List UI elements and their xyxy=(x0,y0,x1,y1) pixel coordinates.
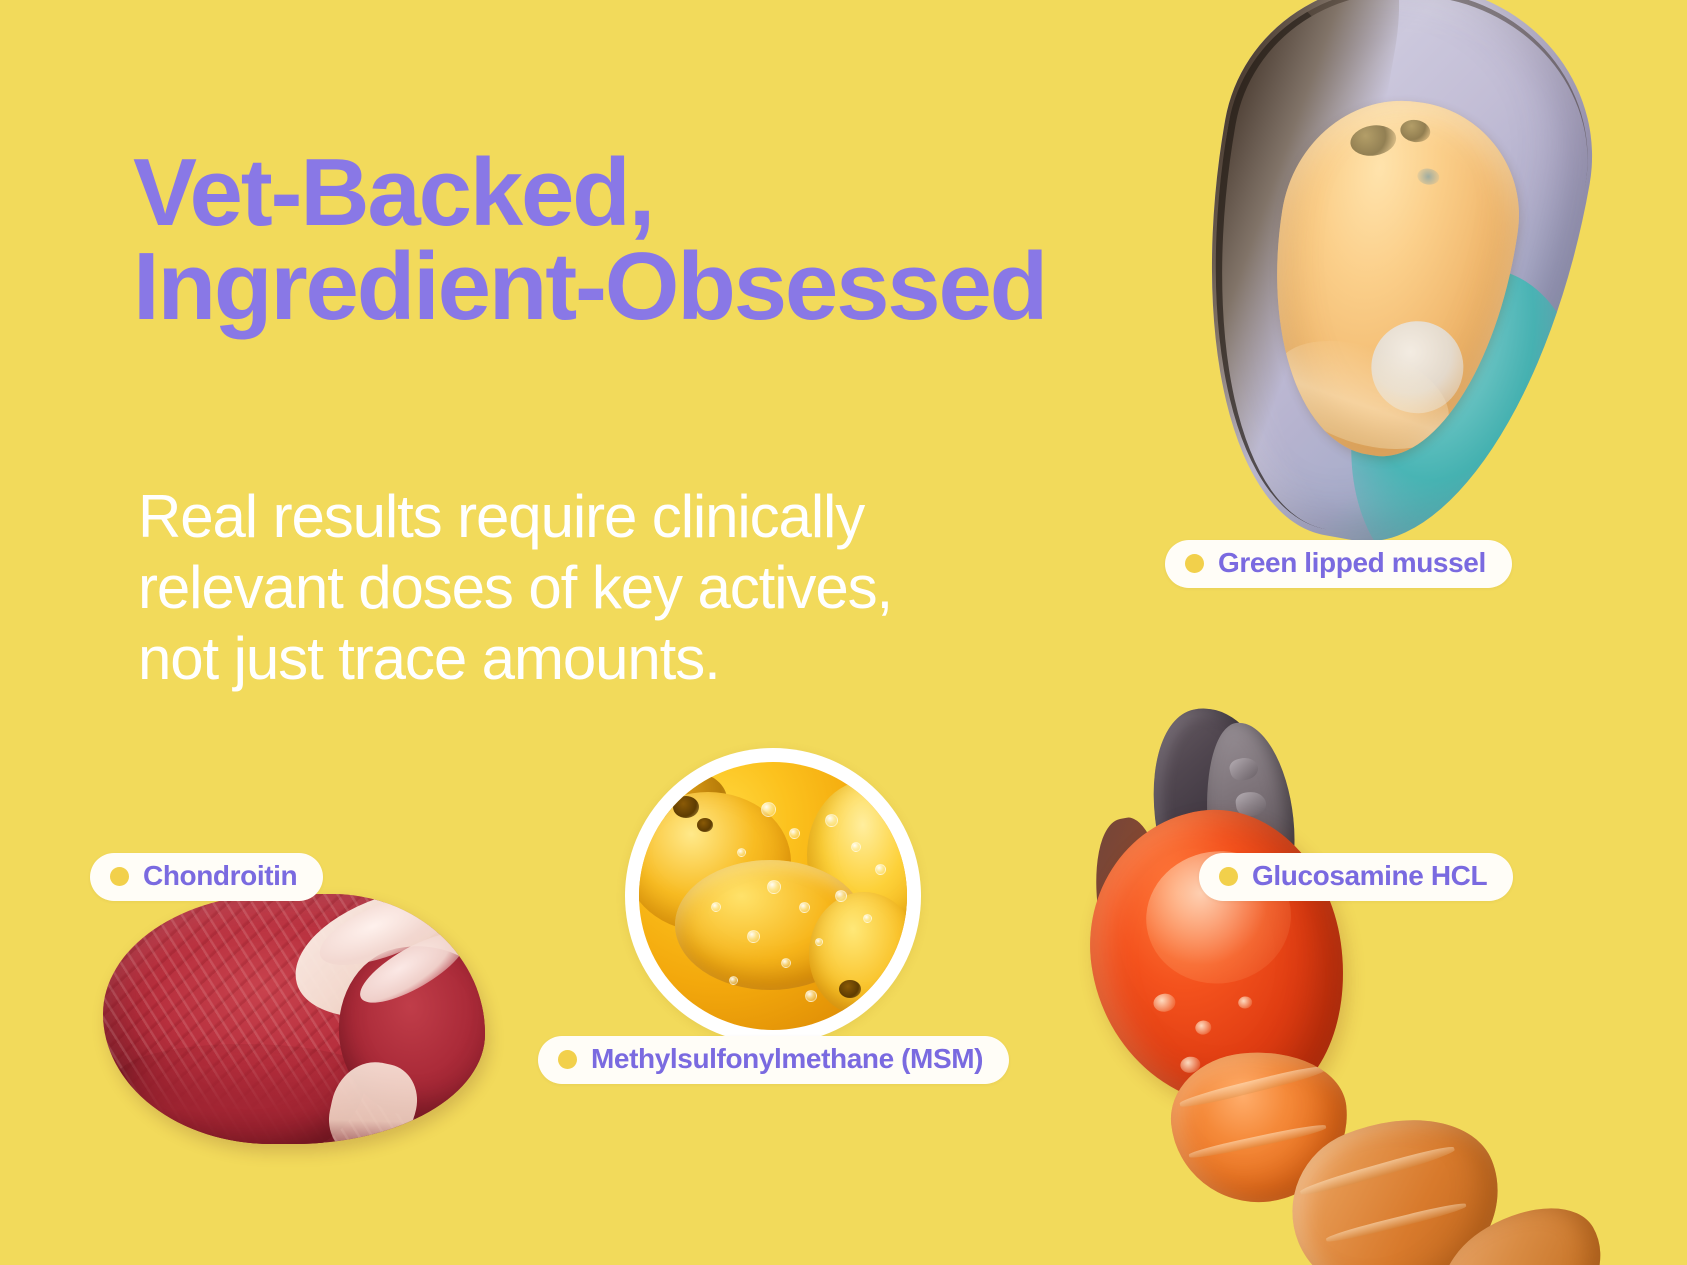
raw-steak-photo xyxy=(95,880,495,1180)
page-title: Vet-Backed, Ingredient-Obsessed xyxy=(133,146,1253,334)
oil-bubble xyxy=(815,938,823,946)
mussel-flesh-spot xyxy=(1416,167,1440,186)
oil-bubble xyxy=(863,914,872,923)
subtitle-line-3: not just trace amounts. xyxy=(138,624,1098,695)
oil-bubble xyxy=(789,828,800,839)
claw-segment-line xyxy=(1299,1143,1456,1199)
ingredient-label-text: Green lipped mussel xyxy=(1218,549,1486,577)
oil-bubble xyxy=(799,902,810,913)
bullet-dot-icon xyxy=(1185,554,1204,573)
mussel-flesh-spot xyxy=(1399,118,1432,144)
oil-dark-speck xyxy=(673,796,699,818)
oil-bubble xyxy=(737,848,746,857)
green-lipped-mussel-photo xyxy=(1185,0,1605,562)
ingredient-label-glucosamine-hcl[interactable]: Glucosamine HCL xyxy=(1199,853,1513,901)
oil-bubble xyxy=(851,842,861,852)
promo-banner: Vet-Backed, Ingredient-Obsessed Real res… xyxy=(0,0,1687,1265)
oil-bubble xyxy=(729,976,738,985)
msm-oil-surface xyxy=(639,762,907,1030)
oil-dark-speck xyxy=(839,980,861,998)
subtitle-line-2: relevant doses of key actives, xyxy=(138,553,1098,624)
claw-speckle xyxy=(1237,996,1253,1010)
ingredient-label-text: Glucosamine HCL xyxy=(1252,862,1487,890)
oil-bubble xyxy=(805,990,817,1002)
headline-line-1: Vet-Backed, xyxy=(133,146,1253,240)
steak-body xyxy=(103,894,485,1144)
ingredient-label-green-lipped-mussel[interactable]: Green lipped mussel xyxy=(1165,540,1512,588)
headline-line-2: Ingredient-Obsessed xyxy=(133,240,1253,334)
oil-bubble xyxy=(747,930,760,943)
msm-oil-circle-photo xyxy=(625,748,921,1044)
mussel-flesh-spot xyxy=(1348,122,1398,159)
claw-speckle xyxy=(1194,1020,1212,1036)
bullet-dot-icon xyxy=(110,867,129,886)
claw-segment-line xyxy=(1179,1063,1327,1111)
oil-bubble xyxy=(767,880,781,894)
ingredient-label-text: Chondroitin xyxy=(143,862,297,890)
subtitle-line-1: Real results require clinically xyxy=(138,482,1098,553)
oil-dark-speck xyxy=(697,818,713,832)
oil-bubble xyxy=(825,814,838,827)
claw-speckle xyxy=(1152,992,1176,1013)
oil-bubble xyxy=(711,902,721,912)
oil-bubble xyxy=(781,958,791,968)
crab-claw-photo xyxy=(1040,700,1600,1265)
bullet-dot-icon xyxy=(558,1050,577,1069)
page-subtitle: Real results require clinically relevant… xyxy=(138,482,1098,694)
oil-bubble xyxy=(761,802,776,817)
oil-bubble xyxy=(835,890,847,902)
bullet-dot-icon xyxy=(1219,867,1238,886)
oil-droplet xyxy=(809,892,907,1016)
oil-bubble xyxy=(875,864,886,875)
ingredient-label-chondroitin[interactable]: Chondroitin xyxy=(90,853,323,901)
claw-segment-line xyxy=(1325,1200,1467,1245)
claw-segment-line xyxy=(1188,1122,1327,1161)
ingredient-label-msm[interactable]: Methylsulfonylmethane (MSM) xyxy=(538,1036,1009,1084)
ingredient-label-text: Methylsulfonylmethane (MSM) xyxy=(591,1045,983,1073)
